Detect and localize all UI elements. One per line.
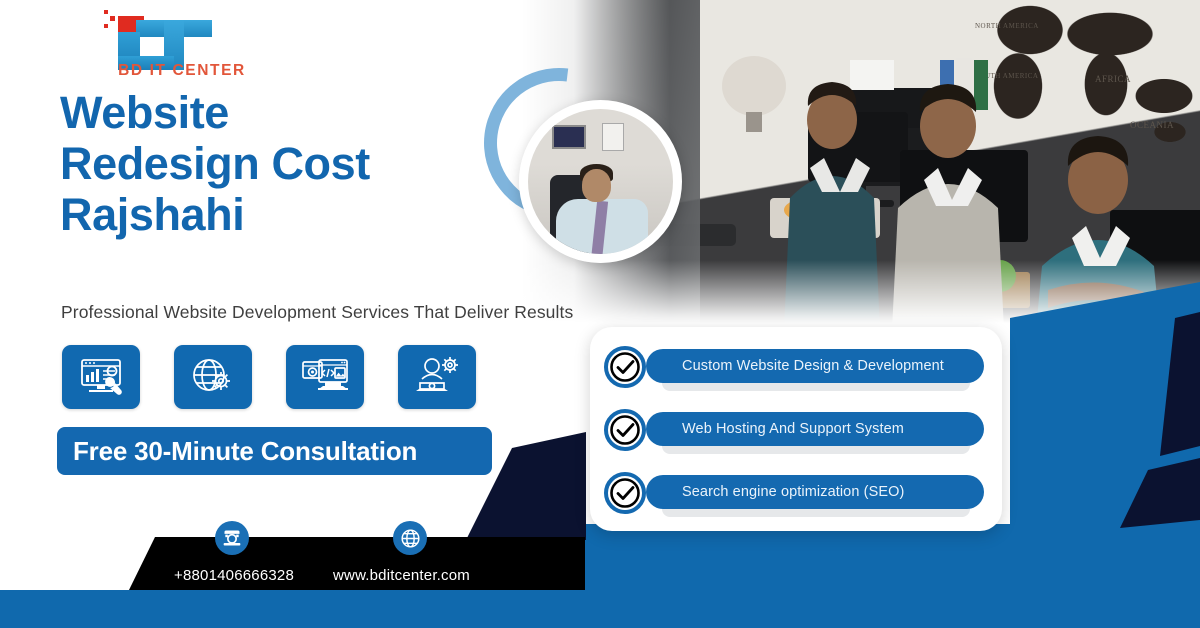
feature-row-3-shadow — [662, 509, 970, 517]
service-tile-support[interactable] — [398, 345, 476, 409]
feature-pill-1: Custom Website Design & Development — [646, 349, 984, 383]
feature-pill-2: Web Hosting And Support System — [646, 412, 984, 446]
footer-contact: +8801406666328 www.bditcenter.com — [128, 545, 548, 591]
logo-wordmark: BD IT CENTER — [92, 62, 272, 80]
check-circle-icon — [604, 409, 646, 451]
web-design-screens-icon — [301, 357, 349, 397]
headline-line-3: Rajshahi — [60, 190, 490, 241]
bd-it-center-logo[interactable]: BD IT CENTER — [92, 6, 272, 76]
page-title: Website Redesign Cost Rajshahi — [60, 88, 490, 241]
check-circle-icon — [604, 346, 646, 388]
free-consultation-button[interactable]: Free 30-Minute Consultation — [57, 427, 492, 475]
executive-portrait-avatar — [519, 100, 682, 263]
service-tile-web-design[interactable] — [286, 345, 364, 409]
portrait-wall-certificate — [602, 123, 624, 151]
globe-icon[interactable] — [393, 521, 427, 555]
check-circle-icon — [604, 472, 646, 514]
headline-line-1: Website — [60, 88, 490, 139]
service-tile-website-maintenance[interactable] — [62, 345, 140, 409]
logo-pixel-1 — [104, 10, 108, 14]
headline-line-2: Redesign Cost — [60, 139, 490, 190]
footer-phone-number[interactable]: +8801406666328 — [174, 567, 294, 584]
portrait-face — [582, 169, 611, 202]
footer-website-url[interactable]: www.bditcenter.com — [333, 567, 470, 584]
feature-row-1[interactable]: Custom Website Design & Development — [604, 343, 988, 389]
support-person-laptop-gear-icon — [414, 357, 460, 397]
navy-wedge-right-lower — [1120, 458, 1200, 528]
service-tile-global-web[interactable] — [174, 345, 252, 409]
bottom-blue-bar — [0, 590, 1200, 628]
feature-row-1-shadow — [662, 383, 970, 391]
telephone-icon[interactable] — [215, 521, 249, 555]
service-icon-tiles — [62, 345, 476, 409]
globe-gear-icon — [191, 357, 235, 397]
feature-pill-3: Search engine optimization (SEO) — [646, 475, 984, 509]
logo-pixel-3 — [104, 24, 108, 28]
feature-row-2[interactable]: Web Hosting And Support System — [604, 406, 988, 452]
feature-row-3[interactable]: Search engine optimization (SEO) — [604, 469, 988, 515]
marketing-banner: NORTH AMERICA SOUTH AMERICA AFRICA OCEAN… — [0, 0, 1200, 628]
subheadline: Professional Website Development Service… — [61, 302, 581, 323]
logo-pixel-2 — [110, 16, 115, 21]
portrait-wall-photo — [552, 125, 586, 149]
monitor-analytics-wrench-icon — [77, 357, 125, 397]
feature-row-2-shadow — [662, 446, 970, 454]
navy-wedge-right — [1160, 312, 1200, 456]
features-card: Custom Website Design & Development Web … — [590, 327, 1002, 531]
